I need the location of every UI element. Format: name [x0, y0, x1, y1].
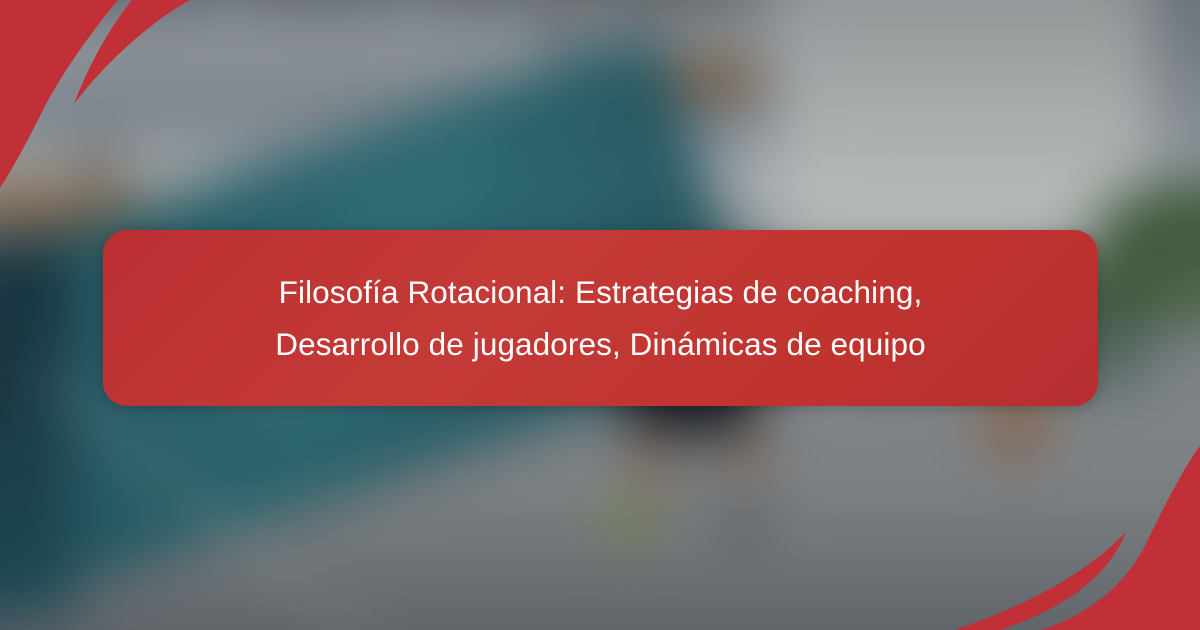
social-card: Filosofía Rotacional: Estrategias de coa…: [0, 0, 1200, 630]
title-banner: Filosofía Rotacional: Estrategias de coa…: [103, 230, 1098, 406]
banner-title-text: Filosofía Rotacional: Estrategias de coa…: [275, 266, 926, 371]
